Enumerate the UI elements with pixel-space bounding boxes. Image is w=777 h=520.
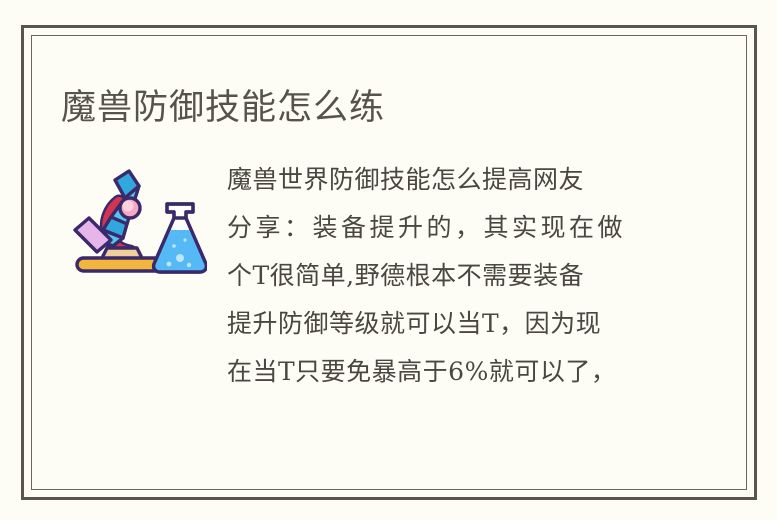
article-card: 魔兽防御技能怎么练 [21, 25, 757, 500]
microscope-and-flask-icon [67, 168, 207, 278]
page-title: 魔兽防御技能怎么练 [61, 86, 385, 130]
body-line-4: 提升防御等级就可以当T，因为现 [227, 300, 647, 348]
body-line-5: 在当T只要免暴高于6%就可以了， [227, 348, 647, 396]
body-line-2: 分享：装备提升的，其实现在做 [227, 204, 647, 252]
body-line-1: 魔兽世界防御技能怎么提高网友 [227, 156, 647, 204]
body-line-3: 个T很简单,野德根本不需要装备 [227, 252, 647, 300]
article-body: 魔兽世界防御技能怎么提高网友 分享：装备提升的，其实现在做 个T很简单,野德根本… [227, 156, 647, 396]
